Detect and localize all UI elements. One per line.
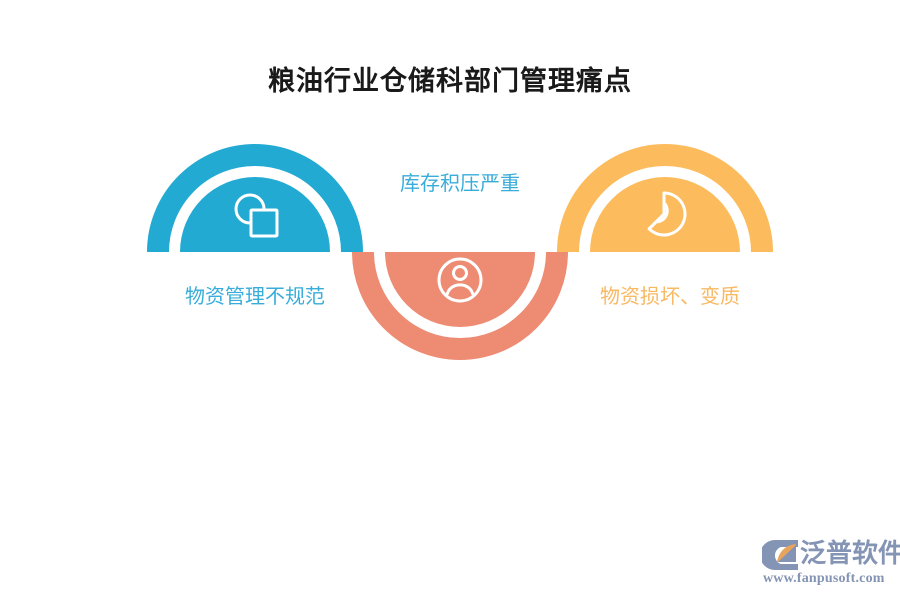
fanpu-logo-icon xyxy=(762,538,800,572)
node-label-left: 物资管理不规范 xyxy=(100,283,410,311)
slide-canvas: 粮油行业仓储科部门管理痛点 xyxy=(0,0,900,600)
logo-url: www.fanpusoft.com xyxy=(763,570,885,588)
node-label-center: 库存积压严重 xyxy=(330,170,590,198)
node-right[interactable] xyxy=(568,155,762,349)
node-left[interactable] xyxy=(158,155,352,349)
brand-logo[interactable]: 泛普软件 www.fanpusoft.com xyxy=(762,536,894,590)
node-label-right: 物资损坏、变质 xyxy=(515,283,825,311)
logo-wordmark: 泛普软件 xyxy=(800,536,900,570)
